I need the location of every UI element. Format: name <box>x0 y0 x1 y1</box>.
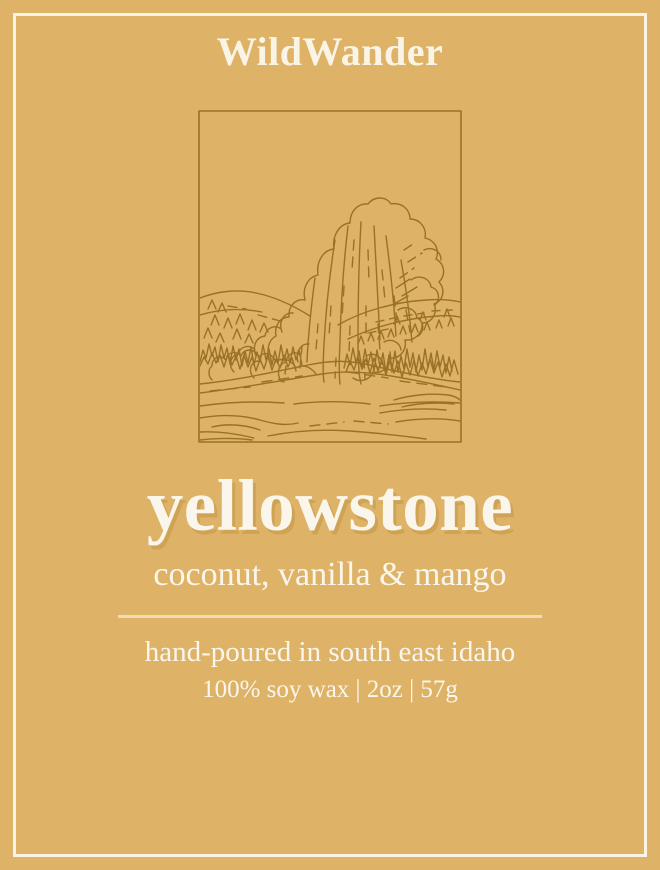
candle-label: WildWander <box>0 0 660 870</box>
product-title: yellowstone <box>147 469 513 542</box>
product-specs: 100% soy wax | 2oz | 57g <box>202 676 458 705</box>
label-content: WildWander <box>0 0 660 870</box>
geyser-illustration <box>198 110 462 443</box>
scent-notes: coconut, vanilla & mango <box>153 556 506 593</box>
section-divider <box>118 615 542 618</box>
brand-name: WildWander <box>217 30 444 74</box>
origin-text: hand-poured in south east idaho <box>145 636 515 669</box>
